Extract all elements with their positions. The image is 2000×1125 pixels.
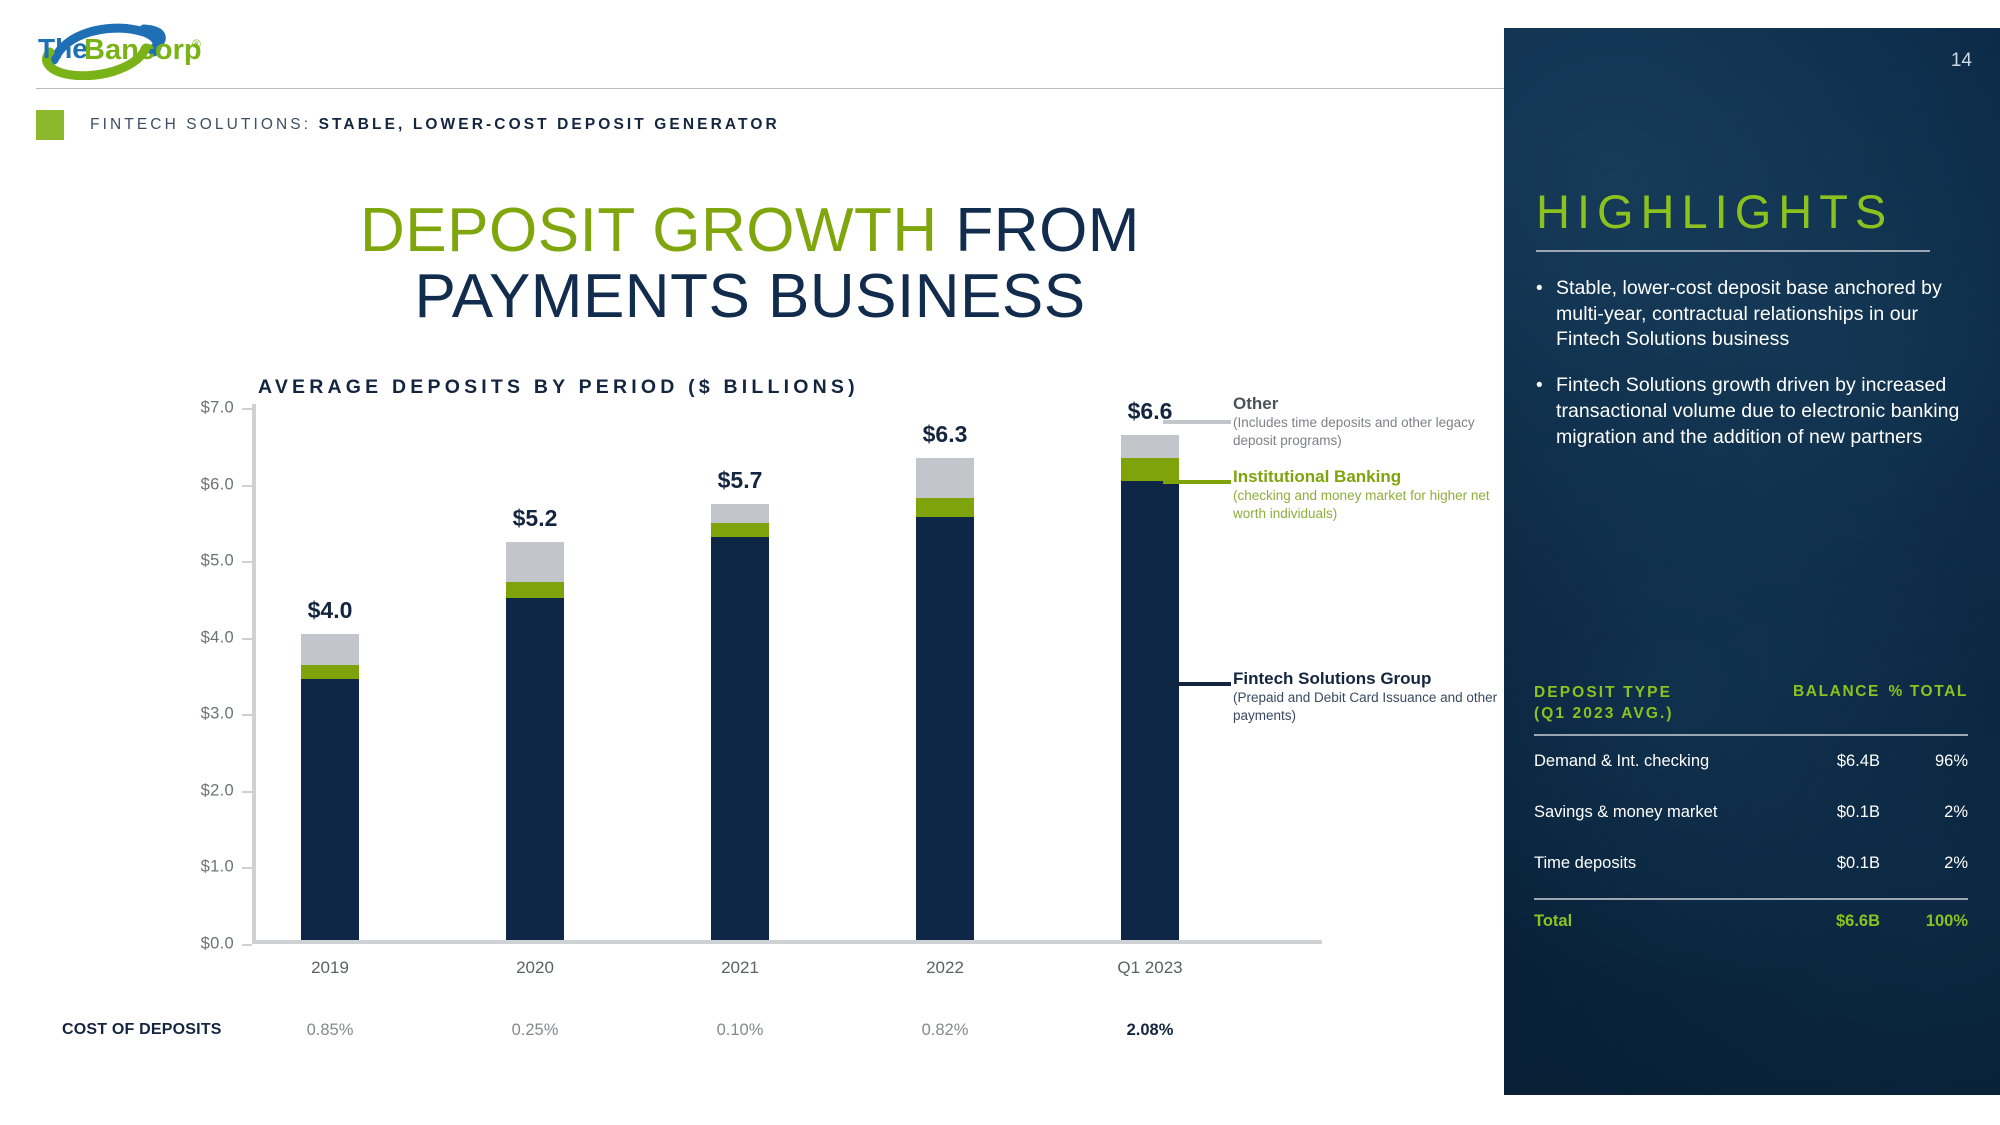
page-title-green: DEPOSIT GROWTH (360, 196, 955, 265)
y-axis-tick-label: $7.0 (201, 399, 234, 418)
eyebrow-lead: FINTECH SOLUTIONS: (90, 116, 319, 133)
legend-other-title: Other (1233, 394, 1515, 414)
highlights-panel: 14 HIGHLIGHTS •Stable, lower-cost deposi… (1504, 28, 2000, 1095)
svg-text:®: ® (192, 37, 201, 51)
deposit-table-row: Time deposits$0.1B2% (1534, 838, 1968, 889)
x-axis-label: 2021 (721, 958, 759, 978)
deposit-table-row: Savings & money market$0.1B2% (1534, 787, 1968, 838)
highlights-bullet: •Fintech Solutions growth driven by incr… (1534, 373, 1974, 450)
eyebrow: FINTECH SOLUTIONS: STABLE, LOWER-COST DE… (36, 110, 780, 140)
y-axis-tick (242, 791, 252, 793)
bar-segment-institutional-banking (506, 582, 564, 598)
highlights-bullet-text: Fintech Solutions growth driven by incre… (1556, 373, 1974, 450)
bar-segment-other (301, 634, 359, 665)
chart-bars: $4.0$5.2$5.7$6.3$6.6 (252, 404, 1322, 940)
deposit-row-pct: 2% (1880, 854, 1968, 873)
bar-segment-institutional-banking (916, 498, 974, 517)
x-axis-label: Q1 2023 (1117, 958, 1182, 978)
x-axis-label: 2022 (926, 958, 964, 978)
bar-segment-institutional-banking (711, 523, 769, 537)
highlights-bullet-text: Stable, lower-cost deposit base anchored… (1556, 276, 1974, 353)
svg-text:Bancorp: Bancorp (84, 34, 202, 66)
legend-item-fintech: Fintech Solutions Group (Prepaid and Deb… (1233, 669, 1515, 724)
deposit-table-total-row: Total $6.6B 100% (1534, 900, 1968, 944)
y-axis-tick-label: $1.0 (201, 858, 234, 877)
bar-segment-other (916, 458, 974, 499)
y-axis-tick-label: $3.0 (201, 705, 234, 724)
page-number: 14 (1951, 50, 1972, 72)
legend-institutional-sub: (checking and money market for higher ne… (1233, 487, 1515, 522)
svg-text:The: The (38, 33, 88, 64)
slide-root: The Bancorp ® FINTECH SOLUTIONS: STABLE,… (0, 0, 2000, 1125)
cost-of-deposits-value: 0.10% (717, 1021, 764, 1040)
y-axis-tick (242, 485, 252, 487)
bar-segment-other (1121, 435, 1179, 458)
deposit-table-header-type-line2: (Q1 2023 AVG.) (1534, 704, 1772, 725)
y-axis-tick-label: $0.0 (201, 935, 234, 954)
bullet-marker-icon: • (1534, 276, 1556, 353)
cost-of-deposits-label: COST OF DEPOSITS (62, 1021, 222, 1039)
bancorp-logo-icon: The Bancorp ® (36, 22, 206, 80)
deposit-row-name: Demand & Int. checking (1534, 752, 1772, 771)
cost-of-deposits-value: 0.85% (307, 1021, 354, 1040)
cost-of-deposits-value: 2.08% (1127, 1021, 1174, 1040)
deposit-total-label: Total (1534, 912, 1772, 931)
y-axis-tick-label: $2.0 (201, 781, 234, 800)
y-axis-tick (242, 561, 252, 563)
deposit-total-balance: $6.6B (1772, 912, 1880, 931)
x-axis-label: 2019 (311, 958, 349, 978)
y-axis-tick (242, 714, 252, 716)
cost-of-deposits-value: 0.25% (512, 1021, 559, 1040)
deposit-total-pct: 100% (1880, 912, 1968, 931)
page-title: DEPOSIT GROWTH FROM PAYMENTS BUSINESS (0, 198, 1500, 329)
page-title-navy: FROM (955, 196, 1140, 265)
bancorp-logo: The Bancorp ® (36, 22, 206, 80)
highlights-title: HIGHLIGHTS (1536, 184, 1893, 239)
eyebrow-swatch (36, 110, 64, 140)
eyebrow-bold: STABLE, LOWER-COST DEPOSIT GENERATOR (319, 116, 780, 133)
bar-segment-fintech-solutions-group (506, 598, 564, 940)
highlights-bullet-list: •Stable, lower-cost deposit base anchore… (1534, 276, 1974, 470)
deposit-row-balance: $0.1B (1772, 803, 1880, 822)
y-axis-tick (242, 638, 252, 640)
legend-connector-other (1163, 420, 1231, 424)
bar-total-label: $4.0 (308, 597, 353, 624)
highlights-bullet: •Stable, lower-cost deposit base anchore… (1534, 276, 1974, 353)
legend-item-other: Other (Includes time deposits and other … (1233, 394, 1515, 449)
deposit-row-name: Savings & money market (1534, 803, 1772, 822)
bar-segment-institutional-banking (1121, 458, 1179, 481)
cost-of-deposits-value: 0.82% (922, 1021, 969, 1040)
y-axis-tick (242, 944, 252, 946)
legend-institutional-title: Institutional Banking (1233, 467, 1515, 487)
header-divider (36, 88, 1504, 89)
deposit-row-pct: 2% (1880, 803, 1968, 822)
bar-total-label: $5.2 (513, 505, 558, 532)
chart-plot-area: $4.0$5.2$5.7$6.3$6.6 (252, 404, 1322, 944)
y-axis-tick-label: $4.0 (201, 628, 234, 647)
y-axis-tick (242, 867, 252, 869)
deposit-row-balance: $0.1B (1772, 854, 1880, 873)
bar-segment-fintech-solutions-group (711, 537, 769, 940)
page-title-line1: DEPOSIT GROWTH FROM (0, 198, 1500, 264)
deposit-row-pct: 96% (1880, 752, 1968, 771)
bar-segment-fintech-solutions-group (301, 679, 359, 940)
eyebrow-text: FINTECH SOLUTIONS: STABLE, LOWER-COST DE… (90, 116, 780, 134)
highlights-divider (1536, 250, 1930, 252)
deposit-type-table: DEPOSIT TYPE (Q1 2023 AVG.) BALANCE % TO… (1534, 683, 1968, 944)
bar-total-label: $5.7 (718, 467, 763, 494)
legend-connector-fintech (1163, 682, 1231, 686)
chart-x-axis-labels: 2019202020212022Q1 2023 (252, 958, 1322, 988)
chart-title: AVERAGE DEPOSITS BY PERIOD ($ BILLIONS) (258, 376, 859, 399)
legend-fintech-sub: (Prepaid and Debit Card Issuance and oth… (1233, 689, 1515, 724)
y-axis-tick-label: $5.0 (201, 552, 234, 571)
bullet-marker-icon: • (1534, 373, 1556, 450)
deposit-table-row: Demand & Int. checking$6.4B96% (1534, 736, 1968, 787)
legend-fintech-title: Fintech Solutions Group (1233, 669, 1515, 689)
bar-segment-other (506, 542, 564, 582)
y-axis-tick-label: $6.0 (201, 475, 234, 494)
legend-connector-institutional (1163, 480, 1231, 484)
bar-segment-fintech-solutions-group (916, 517, 974, 940)
deposit-row-balance: $6.4B (1772, 752, 1880, 771)
deposit-row-name: Time deposits (1534, 854, 1772, 873)
legend-other-sub: (Includes time deposits and other legacy… (1233, 414, 1515, 449)
legend-item-institutional: Institutional Banking (checking and mone… (1233, 467, 1515, 522)
x-axis-label: 2020 (516, 958, 554, 978)
y-axis-tick (242, 408, 252, 410)
deposit-table-header: DEPOSIT TYPE (Q1 2023 AVG.) BALANCE % TO… (1534, 683, 1968, 725)
deposit-table-header-pct: % TOTAL (1880, 683, 1968, 701)
bar-segment-fintech-solutions-group (1121, 481, 1179, 940)
x-axis-line (252, 940, 1322, 944)
page-title-line2: PAYMENTS BUSINESS (0, 264, 1500, 330)
bar-segment-institutional-banking (301, 665, 359, 679)
bar-total-label: $6.3 (923, 421, 968, 448)
deposit-table-header-type: DEPOSIT TYPE (Q1 2023 AVG.) (1534, 683, 1772, 725)
deposit-table-body: Demand & Int. checking$6.4B96%Savings & … (1534, 736, 1968, 889)
bar-segment-other (711, 504, 769, 524)
deposit-table-header-balance: BALANCE (1772, 683, 1880, 701)
deposit-table-header-type-line1: DEPOSIT TYPE (1534, 683, 1772, 704)
cost-of-deposits-values: 0.85%0.25%0.10%0.82%2.08% (252, 1021, 1322, 1045)
